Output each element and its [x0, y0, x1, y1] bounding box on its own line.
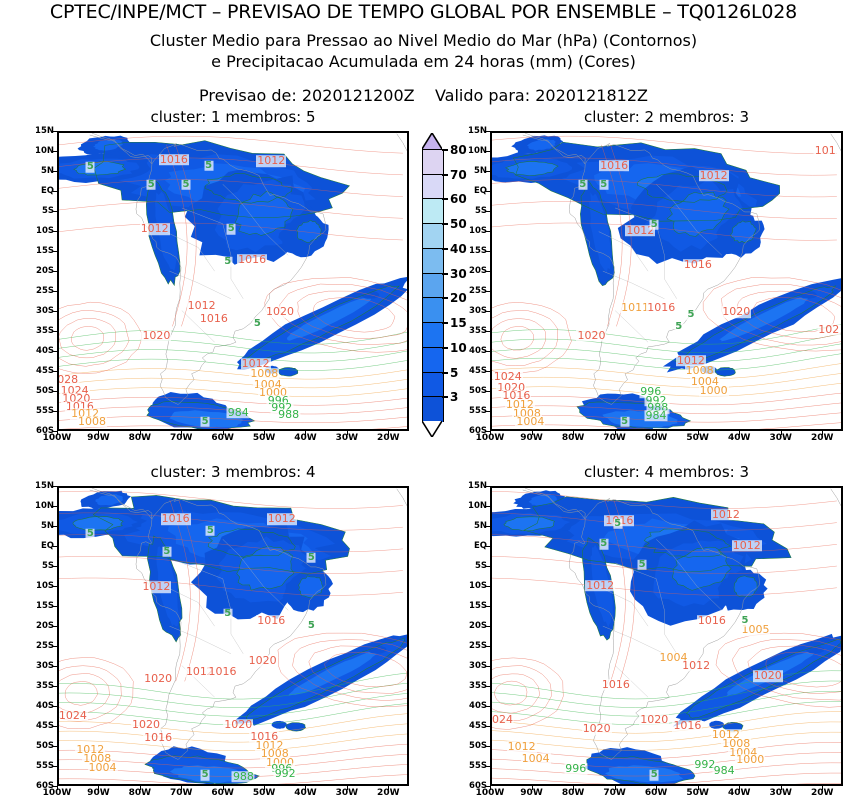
- precip-level-label: 5: [223, 609, 232, 620]
- x-axis-tick: [388, 786, 389, 790]
- y-axis-tick: [53, 151, 57, 152]
- x-axis-tick: [98, 431, 99, 435]
- contour-label: 984: [645, 410, 668, 422]
- y-axis-tick-label: 10S: [469, 582, 487, 591]
- panel-title-2: cluster: 2 membros: 3: [490, 108, 843, 126]
- y-axis-tick: [486, 766, 490, 767]
- contour-label: 1020: [576, 330, 606, 342]
- contour-label: 996: [564, 763, 587, 775]
- x-axis-tick: [490, 786, 491, 790]
- contour-label: 1008: [77, 416, 107, 428]
- y-axis-tick: [53, 271, 57, 272]
- colorbar-cell: [422, 223, 444, 249]
- x-axis-tick-label: 20W: [377, 789, 399, 798]
- plot-frame: 1016101210121012100510161004101210201016…: [490, 486, 843, 786]
- x-axis-tick: [223, 786, 224, 790]
- x-axis-tick-label: 20W: [811, 434, 833, 443]
- x-axis-tick-label: 20W: [377, 434, 399, 443]
- precip-level-label: 5: [307, 552, 316, 563]
- x-axis-tick: [781, 786, 782, 790]
- x-axis-tick: [57, 786, 58, 790]
- x-axis-tick-label: 30W: [336, 789, 358, 798]
- contour-label: 1016: [143, 732, 173, 744]
- y-axis-tick-label: 15N: [35, 127, 54, 136]
- y-axis-tick: [53, 566, 57, 567]
- precip-level-label: 5: [674, 322, 683, 333]
- colorbar-tick: [442, 347, 448, 349]
- y-axis-tick: [486, 311, 490, 312]
- precip-level-label: 5: [650, 220, 659, 231]
- y-axis-tick-label: 10N: [35, 147, 54, 156]
- contour-label: 992: [274, 768, 297, 780]
- map-canvas: [492, 133, 841, 429]
- x-axis-tick-label: 100W: [43, 434, 72, 443]
- colorbar-tick-label: 10: [450, 342, 467, 354]
- x-axis-tick: [305, 431, 306, 435]
- map-canvas: [59, 133, 407, 429]
- x-axis-tick: [140, 786, 141, 790]
- y-axis-tick: [486, 506, 490, 507]
- contour-label: 1016: [256, 615, 286, 627]
- y-axis-tick: [486, 586, 490, 587]
- contour-label: 1016: [199, 314, 229, 326]
- colorbar-tick: [442, 248, 448, 250]
- y-axis-tick-label: 10N: [468, 502, 487, 511]
- x-axis-tick-label: 50W: [686, 789, 708, 798]
- x-axis-tick: [264, 786, 265, 790]
- y-axis-tick-label: 55S: [36, 762, 54, 771]
- y-axis-tick-label: 10S: [469, 227, 487, 236]
- y-axis-tick: [486, 666, 490, 667]
- x-axis-tick: [573, 431, 574, 435]
- colorbar-tick-label: 80: [450, 144, 467, 156]
- panel-title-1: cluster: 1 membros: 5: [57, 108, 409, 126]
- map-canvas: [492, 488, 841, 784]
- x-axis-tick: [388, 431, 389, 435]
- contour-label: 1020: [223, 719, 253, 731]
- x-axis-tick-label: 100W: [43, 789, 72, 798]
- precip-level-label: 5: [201, 770, 210, 781]
- y-axis-tick: [53, 251, 57, 252]
- precip-level-label: 5: [162, 546, 171, 557]
- contour-label: 1016: [159, 154, 189, 166]
- y-axis-tick-label: 45S: [469, 367, 487, 376]
- y-axis-tick-label: 55S: [36, 407, 54, 416]
- colorbar[interactable]: 80706050403020151053: [422, 133, 442, 437]
- x-axis-tick: [347, 786, 348, 790]
- y-axis-tick: [486, 171, 490, 172]
- y-axis-tick-label: 55S: [469, 762, 487, 771]
- y-axis-tick: [486, 566, 490, 567]
- colorbar-tick-label: 30: [450, 268, 467, 280]
- y-axis-tick: [53, 211, 57, 212]
- y-axis-tick: [53, 546, 57, 547]
- x-axis-tick-label: 70W: [603, 789, 625, 798]
- contour-label: 1016: [697, 615, 727, 627]
- contour-label: 1016: [672, 720, 702, 732]
- colorbar-tick-label: 15: [450, 317, 467, 329]
- precip-level-label: 5: [686, 310, 695, 321]
- precip-level-label: 5: [599, 539, 608, 550]
- contour-label: 1004: [515, 416, 545, 428]
- precip-level-label: 5: [182, 180, 191, 191]
- y-axis-tick: [486, 251, 490, 252]
- y-axis-tick-label: 45S: [36, 722, 54, 731]
- colorbar-tick-label: 3: [450, 391, 458, 403]
- y-axis-tick: [53, 331, 57, 332]
- x-axis-tick: [140, 431, 141, 435]
- contour-label: 1000: [699, 385, 729, 397]
- y-axis-tick-label: 10N: [468, 147, 487, 156]
- y-axis-tick: [486, 726, 490, 727]
- precip-level-label: 5: [253, 319, 262, 330]
- y-axis-tick-label: 40S: [469, 702, 487, 711]
- y-axis-tick: [53, 726, 57, 727]
- y-axis-tick: [53, 766, 57, 767]
- y-axis-tick: [53, 586, 57, 587]
- y-axis-tick-label: 40S: [36, 702, 54, 711]
- y-axis-tick: [53, 486, 57, 487]
- contour-label: 1012: [681, 660, 711, 672]
- contour-label: 1016: [599, 160, 629, 172]
- colorbar-tick: [442, 372, 448, 374]
- y-axis-tick-label: 30S: [36, 307, 54, 316]
- contour-label: 1000: [735, 755, 765, 767]
- x-axis-tick-label: 90W: [520, 789, 542, 798]
- contour-label: 988: [232, 771, 255, 783]
- x-axis-tick-label: 90W: [520, 434, 542, 443]
- x-axis-tick-label: 80W: [129, 434, 151, 443]
- colorbar-tick: [442, 198, 448, 200]
- precip-level-label: 5: [227, 224, 236, 235]
- x-axis-tick-label: 80W: [562, 434, 584, 443]
- y-axis-tick: [486, 391, 490, 392]
- precip-level-label: 5: [620, 416, 629, 427]
- x-axis-tick: [532, 786, 533, 790]
- plot-frame: 1011016101210121016101110161020102102010…: [490, 131, 843, 431]
- y-axis-tick-label: 15N: [35, 482, 54, 491]
- y-axis-tick-label: 10S: [36, 582, 54, 591]
- map-canvas: [59, 488, 407, 784]
- contour-label: 1016: [601, 679, 631, 691]
- x-axis-tick: [223, 431, 224, 435]
- x-axis-tick: [822, 786, 823, 790]
- contour-label: 1016: [646, 302, 676, 314]
- x-axis-tick: [347, 431, 348, 435]
- y-axis-tick: [53, 646, 57, 647]
- x-axis-tick-label: 40W: [728, 434, 750, 443]
- y-axis-tick: [486, 486, 490, 487]
- y-axis-tick-label: 45S: [469, 722, 487, 731]
- contour-label: 1016: [161, 513, 191, 525]
- precip-level-label: 5: [741, 616, 750, 627]
- contour-label: 1012: [585, 580, 615, 592]
- x-axis-tick: [490, 431, 491, 435]
- colorbar-tick: [442, 273, 448, 275]
- contour-label: 1012: [711, 509, 741, 521]
- y-axis-tick-label: 25S: [36, 287, 54, 296]
- x-axis-tick-label: 60W: [645, 789, 667, 798]
- y-axis-tick: [486, 626, 490, 627]
- y-axis-tick: [486, 151, 490, 152]
- x-axis-tick: [615, 786, 616, 790]
- colorbar-tick: [442, 223, 448, 225]
- x-axis-tick-label: 90W: [87, 434, 109, 443]
- colorbar-extend-low-arrow: [422, 421, 442, 437]
- precip-level-label: 5: [201, 416, 210, 427]
- precip-level-label: 5: [86, 529, 95, 540]
- colorbar-tick: [442, 149, 448, 151]
- precip-level-label: 5: [206, 526, 215, 537]
- y-axis-tick: [53, 686, 57, 687]
- colorbar-tick-label: 60: [450, 193, 467, 205]
- x-axis-tick-label: 90W: [87, 789, 109, 798]
- y-axis-tick: [53, 231, 57, 232]
- y-axis-tick: [53, 351, 57, 352]
- contour-label: 1020: [141, 330, 171, 342]
- contour-label: 1012: [732, 540, 762, 552]
- map-panel-cluster-1[interactable]: 1016101210121016101210161020102010121008…: [57, 131, 409, 431]
- contour-label: 101: [814, 145, 837, 157]
- y-axis-tick-label: 50S: [469, 742, 487, 751]
- forecast-time-line: Previsao de: 2020121200Z Valido para: 20…: [0, 86, 847, 105]
- precip-level-label: 5: [307, 620, 316, 631]
- x-axis-tick-label: 30W: [769, 434, 791, 443]
- colorbar-cell: [422, 297, 444, 323]
- x-axis-tick-label: 70W: [603, 434, 625, 443]
- y-axis-tick: [53, 411, 57, 412]
- y-axis-tick: [53, 706, 57, 707]
- precip-level-label: 5: [223, 257, 232, 268]
- x-axis-tick-label: 80W: [129, 789, 151, 798]
- y-axis-tick: [53, 171, 57, 172]
- contour-label: 1012: [187, 300, 217, 312]
- y-axis-tick-label: 40S: [36, 347, 54, 356]
- y-axis-tick-label: 15N: [468, 482, 487, 491]
- panel-title-3: cluster: 3 membros: 4: [57, 463, 409, 481]
- y-axis-tick-label: 50S: [36, 742, 54, 751]
- contour-label: 1020: [753, 670, 783, 682]
- x-axis-tick: [656, 431, 657, 435]
- contour-label: 1024: [58, 710, 88, 722]
- contour-label: 024: [491, 715, 514, 727]
- x-axis-tick: [739, 431, 740, 435]
- x-axis-tick: [181, 431, 182, 435]
- y-axis-tick: [486, 291, 490, 292]
- colorbar-cell: [422, 347, 444, 373]
- x-axis-tick-label: 30W: [769, 789, 791, 798]
- x-axis-tick-label: 70W: [170, 789, 192, 798]
- y-axis-tick-label: 30S: [469, 307, 487, 316]
- y-axis-tick: [486, 411, 490, 412]
- x-axis-tick-label: 40W: [728, 789, 750, 798]
- colorbar-tick-label: 5: [450, 367, 458, 379]
- y-axis-tick: [486, 646, 490, 647]
- contour-label: 1020: [131, 719, 161, 731]
- y-axis-tick-label: 30S: [469, 662, 487, 671]
- contour-label: 1012: [507, 741, 537, 753]
- x-axis-tick-label: 80W: [562, 789, 584, 798]
- y-axis-tick-label: 35S: [36, 327, 54, 336]
- x-axis-tick-label: 100W: [476, 434, 505, 443]
- precip-level-label: 5: [204, 160, 213, 171]
- contour-label: 1016: [208, 666, 238, 678]
- y-axis-tick-label: 50S: [469, 387, 487, 396]
- colorbar-tick: [442, 297, 448, 299]
- panel-title-4: cluster: 4 membros: 3: [490, 463, 843, 481]
- x-axis-tick: [615, 431, 616, 435]
- colorbar-cell: [422, 322, 444, 348]
- contour-label: 1020: [721, 306, 751, 318]
- x-axis-tick: [656, 786, 657, 790]
- contour-label: 1016: [683, 259, 713, 271]
- contour-label: 988: [277, 409, 300, 421]
- y-axis-tick-label: 20S: [36, 267, 54, 276]
- y-axis-tick-label: 30S: [36, 662, 54, 671]
- y-axis-tick: [53, 291, 57, 292]
- subtitle-contours: Cluster Medio para Pressao ao Nivel Medi…: [0, 31, 847, 50]
- colorbar-tick: [442, 396, 448, 398]
- precip-level-label: 5: [147, 180, 156, 191]
- x-axis-tick-label: 40W: [294, 789, 316, 798]
- x-axis-tick-label: 50W: [253, 789, 275, 798]
- contour-label: 1012: [141, 581, 171, 593]
- y-axis-tick: [486, 526, 490, 527]
- x-axis-tick: [57, 431, 58, 435]
- contour-label: 1020: [582, 723, 612, 735]
- colorbar-cell: [422, 372, 444, 398]
- y-axis-tick: [53, 666, 57, 667]
- y-axis-tick: [486, 746, 490, 747]
- colorbar-cell: [422, 198, 444, 224]
- x-axis-tick-label: 30W: [336, 434, 358, 443]
- contour-label: 1004: [88, 762, 118, 774]
- contour-label: 1020: [265, 306, 295, 318]
- precip-level-label: 5: [613, 518, 622, 529]
- colorbar-cell: [422, 248, 444, 274]
- y-axis-tick-label: 55S: [469, 407, 487, 416]
- y-axis-tick: [53, 191, 57, 192]
- colorbar-cell: [422, 396, 444, 422]
- y-axis-tick: [486, 351, 490, 352]
- contour-label: 984: [713, 765, 736, 777]
- y-axis-tick: [486, 191, 490, 192]
- x-axis-tick: [739, 786, 740, 790]
- y-axis-tick-label: 35S: [469, 682, 487, 691]
- y-axis-tick: [53, 371, 57, 372]
- y-axis-tick: [486, 706, 490, 707]
- contour-label: 1020: [639, 715, 669, 727]
- colorbar-tick-label: 40: [450, 243, 467, 255]
- y-axis-tick: [486, 686, 490, 687]
- colorbar-cell: [422, 149, 444, 175]
- y-axis-tick-label: 15S: [469, 247, 487, 256]
- x-axis-tick: [698, 431, 699, 435]
- y-axis-tick: [486, 606, 490, 607]
- map-panel-cluster-4[interactable]: 1016101210121012100510161004101210201016…: [490, 486, 843, 786]
- plot-frame: 1016101210121016101210161020102010121008…: [57, 131, 409, 431]
- y-axis-tick: [486, 231, 490, 232]
- y-axis-tick: [53, 526, 57, 527]
- x-axis-tick-label: 50W: [253, 434, 275, 443]
- contour-label: 1012: [140, 223, 170, 235]
- contour-label: 1004: [521, 753, 551, 765]
- contour-label: 1012: [256, 155, 286, 167]
- y-axis-tick: [53, 746, 57, 747]
- y-axis-tick-label: 25S: [36, 642, 54, 651]
- x-axis-tick: [532, 431, 533, 435]
- precip-level-label: 5: [86, 162, 95, 173]
- y-axis-tick: [486, 211, 490, 212]
- x-axis-tick-label: 100W: [476, 789, 505, 798]
- y-axis-tick: [53, 131, 57, 132]
- x-axis-tick-label: 60W: [211, 789, 233, 798]
- y-axis-tick: [486, 331, 490, 332]
- y-axis-tick-label: 20S: [469, 622, 487, 631]
- x-axis-tick: [781, 431, 782, 435]
- contour-label: 1020: [248, 655, 278, 667]
- colorbar-tick-label: 20: [450, 292, 467, 304]
- map-panel-cluster-2[interactable]: 1011016101210121016101110161020102102010…: [490, 131, 843, 431]
- y-axis-tick: [53, 626, 57, 627]
- subtitle-colors: e Precipitacao Acumulada em 24 horas (mm…: [0, 52, 847, 71]
- x-axis-tick: [305, 786, 306, 790]
- y-axis-tick-label: 10N: [35, 502, 54, 511]
- y-axis-tick-label: 15S: [36, 602, 54, 611]
- y-axis-tick: [486, 546, 490, 547]
- y-axis-tick: [486, 271, 490, 272]
- x-axis-tick-label: 60W: [211, 434, 233, 443]
- colorbar-tick-label: 50: [450, 218, 467, 230]
- x-axis-tick-label: 20W: [811, 789, 833, 798]
- y-axis-tick: [53, 506, 57, 507]
- x-axis-tick-label: 50W: [686, 434, 708, 443]
- x-axis-tick: [698, 786, 699, 790]
- precip-level-label: 5: [638, 560, 647, 571]
- contour-label: 1016: [237, 254, 267, 266]
- x-axis-tick-label: 70W: [170, 434, 192, 443]
- precip-level-label: 5: [578, 180, 587, 191]
- contour-label: 1012: [267, 513, 297, 525]
- y-axis-tick: [53, 391, 57, 392]
- y-axis-tick-label: 35S: [36, 682, 54, 691]
- colorbar-cell: [422, 174, 444, 200]
- y-axis-tick-label: 25S: [469, 287, 487, 296]
- x-axis-tick: [181, 786, 182, 790]
- plot-frame: 1016101210121016102010121016102010241020…: [57, 486, 409, 786]
- x-axis-tick: [98, 786, 99, 790]
- map-panel-cluster-3[interactable]: 1016101210121016102010121016102010241020…: [57, 486, 409, 786]
- precip-level-label: 5: [650, 770, 659, 781]
- x-axis-tick: [264, 431, 265, 435]
- x-axis-tick: [822, 431, 823, 435]
- y-axis-tick: [53, 606, 57, 607]
- contour-label: 1020: [143, 673, 173, 685]
- precip-level-label: 5: [599, 180, 608, 191]
- colorbar-tick-label: 70: [450, 169, 467, 181]
- y-axis-tick-label: 10S: [36, 227, 54, 236]
- colorbar-tick: [442, 322, 448, 324]
- contour-label: 102: [817, 324, 840, 336]
- y-axis-tick-label: 15S: [469, 602, 487, 611]
- contour-label: 984: [227, 407, 250, 419]
- contour-label: 1012: [699, 170, 729, 182]
- colorbar-cell: [422, 273, 444, 299]
- y-axis-tick-label: 15N: [468, 127, 487, 136]
- x-axis-tick: [573, 786, 574, 790]
- y-axis-tick-label: 15S: [36, 247, 54, 256]
- y-axis-tick-label: 35S: [469, 327, 487, 336]
